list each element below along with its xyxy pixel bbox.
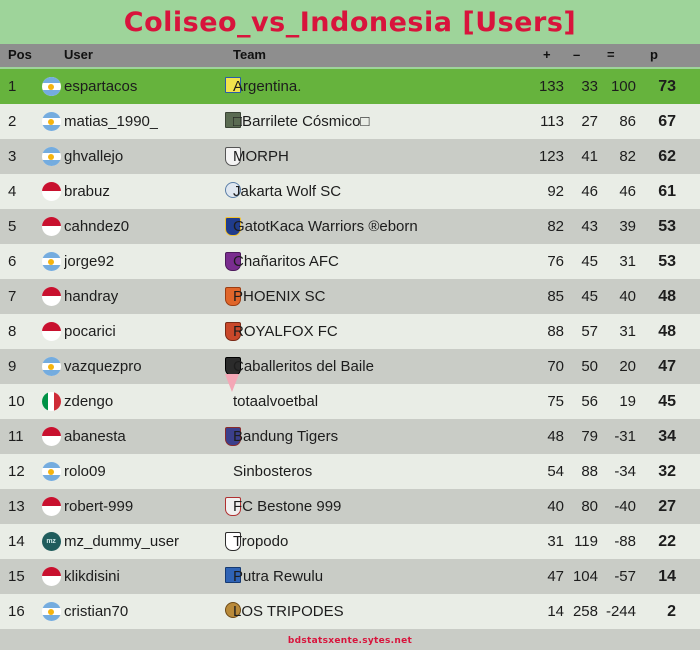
row-username[interactable]: zdengo	[64, 384, 224, 419]
table-row[interactable]: 15klikdisiniPutra Rewulu47104-5714	[0, 559, 700, 594]
row-teamname[interactable]: MORPH	[233, 139, 523, 174]
username-label: vazquezpro	[64, 358, 142, 375]
row-username[interactable]: cahndez0	[64, 209, 224, 244]
username-label: pocarici	[64, 323, 116, 340]
row-position: 16	[8, 594, 42, 629]
row-points: 73	[646, 69, 676, 104]
teamname-label: Chañaritos AFC	[233, 253, 339, 270]
row-goals-for: 70	[528, 349, 564, 384]
row-points: 67	[646, 104, 676, 139]
row-teamname[interactable]: PHOENIX SC	[233, 279, 523, 314]
username-label: jorge92	[64, 253, 114, 270]
row-points: 47	[646, 349, 676, 384]
row-points: 14	[646, 559, 676, 594]
row-goals-against: 45	[568, 279, 598, 314]
table-row[interactable]: 9vazquezproCaballeritos del Baile7050204…	[0, 349, 700, 384]
column-header-row: Pos User Team + – = p	[0, 44, 700, 67]
row-points: 62	[646, 139, 676, 174]
mz-avatar-icon: mz	[42, 532, 61, 551]
teamname-label: Argentina.	[233, 78, 301, 95]
row-position: 6	[8, 244, 42, 279]
row-flag	[38, 244, 64, 279]
row-goal-difference: -31	[600, 419, 636, 454]
row-teamname[interactable]: Tropodo	[233, 524, 523, 559]
row-goals-against: 45	[568, 244, 598, 279]
column-header-team[interactable]: Team	[233, 47, 266, 62]
row-teamname[interactable]: Putra Rewulu	[233, 559, 523, 594]
table-row[interactable]: 1espartacosArgentina.1333310073	[0, 69, 700, 104]
teamname-label: Jakarta Wolf SC	[233, 183, 341, 200]
table-row[interactable]: 8pocariciROYALFOX FC88573148	[0, 314, 700, 349]
username-label: matias_1990_	[64, 113, 158, 130]
row-flag	[38, 314, 64, 349]
row-username[interactable]: jorge92	[64, 244, 224, 279]
sun-icon	[48, 119, 54, 125]
row-goals-against: 79	[568, 419, 598, 454]
row-teamname[interactable]: ROYALFOX FC	[233, 314, 523, 349]
row-goal-difference: -40	[600, 489, 636, 524]
row-flag	[38, 69, 64, 104]
table-row[interactable]: 10zdengototaalvoetbal75561945	[0, 384, 700, 419]
row-points: 2	[646, 594, 676, 629]
row-goals-for: 54	[528, 454, 564, 489]
row-goal-difference: 82	[600, 139, 636, 174]
row-goal-difference: 100	[600, 69, 636, 104]
row-goals-for: 47	[528, 559, 564, 594]
table-row[interactable]: 6jorge92Chañaritos AFC76453153	[0, 244, 700, 279]
page-title: Coliseo_vs_Indonesia [Users]	[124, 7, 576, 38]
row-goal-difference: -57	[600, 559, 636, 594]
row-goal-difference: 31	[600, 244, 636, 279]
row-goals-against: 104	[568, 559, 598, 594]
row-teamname[interactable]: LOS TRIPODES	[233, 594, 523, 629]
table-row[interactable]: 2matias_1990_□Barrilete Cósmico□11327866…	[0, 104, 700, 139]
row-flag	[38, 279, 64, 314]
teamname-label: MORPH	[233, 148, 289, 165]
username-label: cristian70	[64, 603, 128, 620]
column-header-equals[interactable]: =	[607, 47, 615, 62]
username-label: rolo09	[64, 463, 106, 480]
italy-flag-icon	[42, 392, 61, 411]
teamname-label: Bandung Tigers	[233, 428, 338, 445]
teamname-label: ROYALFOX FC	[233, 323, 338, 340]
row-position: 7	[8, 279, 42, 314]
row-username[interactable]: robert-999	[64, 489, 224, 524]
row-teamname[interactable]: Caballeritos del Baile	[233, 349, 523, 384]
row-points: 61	[646, 174, 676, 209]
row-goals-for: 48	[528, 419, 564, 454]
row-points: 53	[646, 244, 676, 279]
row-goals-against: 33	[568, 69, 598, 104]
row-goal-difference: 40	[600, 279, 636, 314]
username-label: mz_dummy_user	[64, 533, 179, 550]
table-row[interactable]: 3ghvallejoMORPH123418262	[0, 139, 700, 174]
row-teamname[interactable]: □Barrilete Cósmico□	[233, 104, 523, 139]
row-goals-for: 123	[528, 139, 564, 174]
row-teamname[interactable]: Argentina.	[233, 69, 523, 104]
teamname-label: Sinbosteros	[233, 463, 312, 480]
sun-icon	[48, 154, 54, 160]
row-flag	[38, 419, 64, 454]
sun-icon	[48, 469, 54, 475]
row-username[interactable]: vazquezpro	[64, 349, 224, 384]
teamname-label: totaalvoetbal	[233, 393, 318, 410]
teamname-label: Caballeritos del Baile	[233, 358, 374, 375]
sun-icon	[48, 259, 54, 265]
table-row[interactable]: 13robert-999FC Bestone 9994080-4027	[0, 489, 700, 524]
row-teamname[interactable]: FC Bestone 999	[233, 489, 523, 524]
row-username[interactable]: mz_dummy_user	[64, 524, 224, 559]
row-goal-difference: -88	[600, 524, 636, 559]
row-goal-difference: 86	[600, 104, 636, 139]
username-label: abanesta	[64, 428, 126, 445]
row-flag	[38, 594, 64, 629]
row-goals-against: 46	[568, 174, 598, 209]
row-goals-for: 75	[528, 384, 564, 419]
row-position: 10	[8, 384, 42, 419]
row-goals-for: 88	[528, 314, 564, 349]
row-position: 13	[8, 489, 42, 524]
indonesia-flag-icon	[42, 322, 61, 341]
table-row[interactable]: 14mzmz_dummy_userTropodo31119-8822	[0, 524, 700, 559]
username-label: cahndez0	[64, 218, 129, 235]
indonesia-flag-icon	[42, 427, 61, 446]
column-header-user[interactable]: User	[64, 47, 93, 62]
row-points: 48	[646, 314, 676, 349]
row-flag	[38, 104, 64, 139]
sun-icon	[48, 84, 54, 90]
row-goals-for: 133	[528, 69, 564, 104]
argentina-flag-icon	[42, 357, 61, 376]
row-username[interactable]: ghvallejo	[64, 139, 224, 174]
username-label: klikdisini	[64, 568, 120, 585]
row-teamname[interactable]: Chañaritos AFC	[233, 244, 523, 279]
teamname-label: GatotKaca Warriors ®eborn	[233, 218, 418, 235]
row-position: 15	[8, 559, 42, 594]
row-position: 2	[8, 104, 42, 139]
row-goals-for: 85	[528, 279, 564, 314]
row-goals-for: 82	[528, 209, 564, 244]
row-position: 12	[8, 454, 42, 489]
row-teamname[interactable]: GatotKaca Warriors ®eborn	[233, 209, 523, 244]
row-position: 9	[8, 349, 42, 384]
row-goals-for: 76	[528, 244, 564, 279]
sun-icon	[48, 609, 54, 615]
row-position: 3	[8, 139, 42, 174]
row-teamname[interactable]: Jakarta Wolf SC	[233, 174, 523, 209]
row-username[interactable]: rolo09	[64, 454, 224, 489]
teamname-label: □Barrilete Cósmico□	[233, 113, 370, 130]
row-username[interactable]: brabuz	[64, 174, 224, 209]
row-goals-for: 40	[528, 489, 564, 524]
teamname-label: Putra Rewulu	[233, 568, 323, 585]
row-username[interactable]: espartacos	[64, 69, 224, 104]
indonesia-flag-icon	[42, 182, 61, 201]
table-row[interactable]: 4brabuzJakarta Wolf SC92464661	[0, 174, 700, 209]
row-position: 4	[8, 174, 42, 209]
standings-table: 1espartacosArgentina.13333100732matias_1…	[0, 69, 700, 629]
row-goals-for: 113	[528, 104, 564, 139]
row-username[interactable]: matias_1990_	[64, 104, 224, 139]
column-header-points[interactable]: p	[650, 47, 658, 62]
row-goals-against: 88	[568, 454, 598, 489]
row-username[interactable]: abanesta	[64, 419, 224, 454]
table-row[interactable]: 16cristian70LOS TRIPODES14258-2442	[0, 594, 700, 629]
table-row[interactable]: 11abanestaBandung Tigers4879-3134	[0, 419, 700, 454]
row-flag	[38, 349, 64, 384]
watermark: bdstatsxente.sytes.net	[0, 636, 700, 646]
row-goals-against: 258	[568, 594, 598, 629]
row-points: 48	[646, 279, 676, 314]
column-header-pos[interactable]: Pos	[8, 47, 32, 62]
username-label: ghvallejo	[64, 148, 123, 165]
row-goal-difference: 39	[600, 209, 636, 244]
row-flag	[38, 559, 64, 594]
argentina-flag-icon	[42, 112, 61, 131]
row-goal-difference: -244	[600, 594, 636, 629]
teamname-label: Tropodo	[233, 533, 288, 550]
row-position: 1	[8, 69, 42, 104]
row-teamname[interactable]: Sinbosteros	[233, 454, 523, 489]
teamname-label: PHOENIX SC	[233, 288, 326, 305]
argentina-flag-icon	[42, 602, 61, 621]
username-label: handray	[64, 288, 118, 305]
table-row[interactable]: 12rolo09Sinbosteros5488-3432	[0, 454, 700, 489]
row-points: 53	[646, 209, 676, 244]
row-goal-difference: 19	[600, 384, 636, 419]
indonesia-flag-icon	[42, 497, 61, 516]
row-goals-against: 50	[568, 349, 598, 384]
row-goals-against: 43	[568, 209, 598, 244]
row-goals-against: 56	[568, 384, 598, 419]
argentina-flag-icon	[42, 147, 61, 166]
row-points: 45	[646, 384, 676, 419]
row-points: 32	[646, 454, 676, 489]
row-goals-for: 31	[528, 524, 564, 559]
row-flag	[38, 489, 64, 524]
argentina-flag-icon	[42, 462, 61, 481]
argentina-flag-icon	[42, 252, 61, 271]
row-flag	[38, 454, 64, 489]
indonesia-flag-icon	[42, 287, 61, 306]
row-goals-against: 119	[568, 524, 598, 559]
indonesia-flag-icon	[42, 567, 61, 586]
row-position: 11	[8, 419, 42, 454]
row-goal-difference: 46	[600, 174, 636, 209]
username-label: brabuz	[64, 183, 110, 200]
row-goals-against: 27	[568, 104, 598, 139]
username-label: robert-999	[64, 498, 133, 515]
username-label: zdengo	[64, 393, 113, 410]
teamname-label: LOS TRIPODES	[233, 603, 344, 620]
row-position: 14	[8, 524, 42, 559]
sun-icon	[48, 364, 54, 370]
row-flag	[38, 209, 64, 244]
header-band: Coliseo_vs_Indonesia [Users] Pos User Te…	[0, 0, 700, 69]
row-teamname[interactable]: Bandung Tigers	[233, 419, 523, 454]
standings-page: Coliseo_vs_Indonesia [Users] Pos User Te…	[0, 0, 700, 650]
table-row[interactable]: 7handrayPHOENIX SC85454048	[0, 279, 700, 314]
teamname-label: FC Bestone 999	[233, 498, 341, 515]
indonesia-flag-icon	[42, 217, 61, 236]
row-teamname[interactable]: totaalvoetbal	[233, 384, 523, 419]
username-label: espartacos	[64, 78, 137, 95]
row-goals-for: 14	[528, 594, 564, 629]
row-username[interactable]: pocarici	[64, 314, 224, 349]
row-username[interactable]: handray	[64, 279, 224, 314]
row-username[interactable]: klikdisini	[64, 559, 224, 594]
row-flag	[38, 139, 64, 174]
row-points: 27	[646, 489, 676, 524]
row-goal-difference: -34	[600, 454, 636, 489]
row-username[interactable]: cristian70	[64, 594, 224, 629]
row-points: 34	[646, 419, 676, 454]
argentina-flag-icon	[42, 77, 61, 96]
row-goal-difference: 20	[600, 349, 636, 384]
column-header-minus[interactable]: –	[573, 47, 580, 62]
row-position: 5	[8, 209, 42, 244]
row-goal-difference: 31	[600, 314, 636, 349]
row-flag	[38, 384, 64, 419]
row-goals-for: 92	[528, 174, 564, 209]
row-goals-against: 57	[568, 314, 598, 349]
row-goals-against: 80	[568, 489, 598, 524]
row-position: 8	[8, 314, 42, 349]
row-flag: mz	[38, 524, 64, 559]
row-points: 22	[646, 524, 676, 559]
column-header-plus[interactable]: +	[543, 47, 551, 62]
table-row[interactable]: 5cahndez0GatotKaca Warriors ®eborn824339…	[0, 209, 700, 244]
row-flag	[38, 174, 64, 209]
title-bar: Coliseo_vs_Indonesia [Users]	[0, 0, 700, 44]
row-goals-against: 41	[568, 139, 598, 174]
